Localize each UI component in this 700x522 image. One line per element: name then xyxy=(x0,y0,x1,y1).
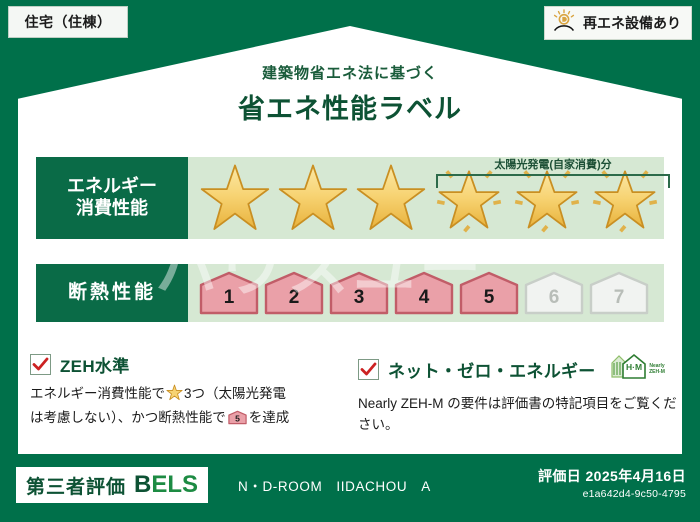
inline-star-icon xyxy=(166,384,183,408)
insulation-level-list: 1 2 3 4 5 xyxy=(188,264,664,322)
energy-stars-area: 太陽光発電(自家消費)分 xyxy=(188,157,664,239)
bels-certification-box: 第三者評価 BELS xyxy=(16,467,208,503)
energy-performance-label-box: エネルギー 消費性能 xyxy=(36,157,188,239)
insulation-performance-label-box: 断熱性能 xyxy=(36,264,188,322)
zeh-standard-block: ZEH水準 エネルギー消費性能で3つ（太陽光発電は考慮しない）、かつ断熱性能で5… xyxy=(30,352,350,432)
renewable-equipment-badge: 再エネ設備あり xyxy=(544,6,692,40)
inline-house-icon: 5 xyxy=(228,409,247,433)
svg-text:H·M: H·M xyxy=(626,362,642,372)
insulation-level-7: 7 xyxy=(588,270,650,316)
insulation-level-6: 6 xyxy=(523,270,585,316)
insulation-level-2-number: 2 xyxy=(263,287,325,309)
zeh-body-part1: エネルギー消費性能で xyxy=(30,386,165,401)
insulation-levels-area: 1 2 3 4 5 xyxy=(188,264,664,322)
star-3 xyxy=(352,159,430,237)
energy-label-line1: エネルギー xyxy=(67,176,157,198)
building-type-label: 住宅（住棟） xyxy=(25,12,112,32)
bels-jp-label: 第三者評価 xyxy=(26,472,126,499)
insulation-level-1: 1 xyxy=(198,270,260,316)
zeh-standard-title-row: ZEH水準 xyxy=(30,352,350,377)
zeh-body-part3: を達成 xyxy=(249,410,290,425)
insulation-level-4-number: 4 xyxy=(393,287,455,309)
bels-letter-b: B xyxy=(134,471,151,498)
zeh-body-part2: は考慮しない）、かつ断熱性能で xyxy=(30,410,226,425)
svg-text:5: 5 xyxy=(235,413,240,423)
insulation-level-1-number: 1 xyxy=(198,287,260,309)
net-zero-title-row: ネット・ゼロ・エネルギー H·M Nearly ZEH-M xyxy=(358,352,678,387)
evaluation-info: 評価日 2025年4月16日 e1a642d4-9c50-4795 xyxy=(538,466,686,500)
energy-label-line2: 消費性能 xyxy=(76,198,148,220)
evaluation-id: e1a642d4-9c50-4795 xyxy=(538,488,686,500)
page-title: 建築物省エネ法に基づく 省エネ性能ラベル xyxy=(0,62,700,126)
solar-sun-icon xyxy=(551,9,577,38)
zeh-standard-title: ZEH水準 xyxy=(60,352,130,377)
building-type-tab: 住宅（住棟） xyxy=(8,6,128,38)
energy-performance-row: エネルギー 消費性能 太陽光発電(自家消費)分 xyxy=(36,157,664,239)
title-main: 省エネ性能ラベル xyxy=(0,87,700,126)
footer: 第三者評価 BELS N・D-ROOM IIDACHOU A 評価日 2025年… xyxy=(0,458,700,522)
bels-en-label: BELS xyxy=(134,471,198,499)
evaluation-date-label: 評価日 xyxy=(538,468,581,484)
net-zero-energy-block: ネット・ゼロ・エネルギー H·M Nearly ZEH-M Nearly ZEH… xyxy=(358,352,678,435)
insulation-level-6-number: 6 xyxy=(523,287,585,309)
energy-performance-label: 住宅（住棟） 再エネ設備あり 建築物省エネ法に基づく 省エネ性能ラベル xyxy=(0,0,700,522)
star-1 xyxy=(196,159,274,237)
insulation-level-7-number: 7 xyxy=(588,287,650,309)
zeh-m-logo-icon: H·M Nearly ZEH-M xyxy=(609,352,671,387)
star-2 xyxy=(274,159,352,237)
insulation-performance-row: 断熱性能 1 2 3 4 xyxy=(36,264,664,322)
insulation-level-3: 3 xyxy=(328,270,390,316)
insulation-label: 断熱性能 xyxy=(68,281,156,304)
solar-caption: 太陽光発電(自家消費)分 xyxy=(424,156,682,172)
title-subtitle: 建築物省エネ法に基づく xyxy=(0,62,700,83)
svg-text:ZEH-M: ZEH-M xyxy=(649,369,665,375)
evaluation-date: 評価日 2025年4月16日 xyxy=(538,466,686,486)
solar-bracket xyxy=(436,174,670,188)
insulation-level-5: 5 xyxy=(458,270,520,316)
insulation-level-3-number: 3 xyxy=(328,287,390,309)
evaluation-date-value: 2025年4月16日 xyxy=(585,468,686,484)
bels-letters-els: ELS xyxy=(151,471,198,498)
net-zero-body: Nearly ZEH-M の要件は評価書の特記項目をご覧ください。 xyxy=(358,394,678,435)
insulation-level-4: 4 xyxy=(393,270,455,316)
project-name: N・D-ROOM IIDACHOU A xyxy=(238,475,431,495)
renewable-badge-label: 再エネ設備あり xyxy=(583,13,681,33)
zeh-standard-body: エネルギー消費性能で3つ（太陽光発電は考慮しない）、かつ断熱性能で5を達成 xyxy=(30,384,350,432)
insulation-level-2: 2 xyxy=(263,270,325,316)
net-zero-title: ネット・ゼロ・エネルギー xyxy=(388,357,596,382)
check-icon xyxy=(30,354,51,375)
check-icon xyxy=(358,359,379,380)
zeh-body-star-count: 3つ（太陽光発電 xyxy=(184,386,286,401)
insulation-level-5-number: 5 xyxy=(458,287,520,309)
